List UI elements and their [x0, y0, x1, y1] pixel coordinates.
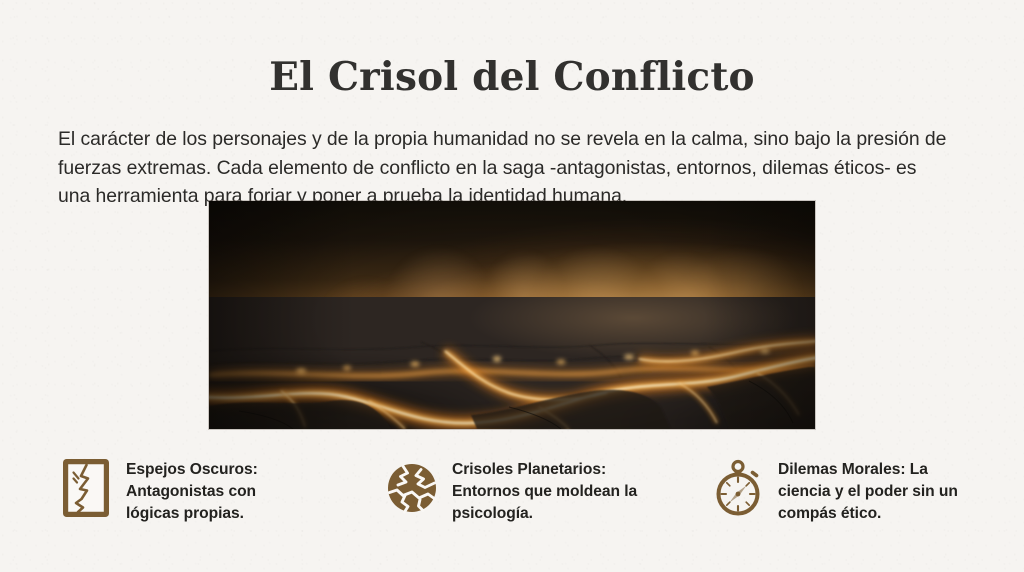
intro-paragraph: El carácter de los personajes y de la pr…	[58, 125, 948, 210]
key-point-espejos-oscuros: Espejos Oscuros: Antagonistas con lógica…	[58, 456, 384, 525]
hero-image-canvas	[209, 201, 815, 429]
key-point-label: Dilemas Morales: La ciencia y el poder s…	[778, 456, 958, 525]
broken-mirror-icon	[58, 458, 114, 518]
key-point-label: Crisoles Planetarios: Entornos que molde…	[452, 456, 642, 525]
hero-lava-cracks	[209, 201, 815, 429]
key-point-crisoles-planetarios: Crisoles Planetarios: Entornos que molde…	[384, 456, 710, 525]
key-point-label: Espejos Oscuros: Antagonistas con lógica…	[126, 456, 286, 525]
page-title: El Crisol del Conflicto	[0, 56, 1024, 99]
cracked-planet-icon	[384, 458, 440, 518]
hero-image	[209, 201, 815, 429]
key-point-dilemas-morales: Dilemas Morales: La ciencia y el poder s…	[710, 456, 974, 525]
key-points-row: Espejos Oscuros: Antagonistas con lógica…	[58, 456, 974, 525]
compass-icon	[710, 458, 766, 518]
slide-root: El Crisol del Conflicto El carácter de l…	[0, 0, 1024, 572]
